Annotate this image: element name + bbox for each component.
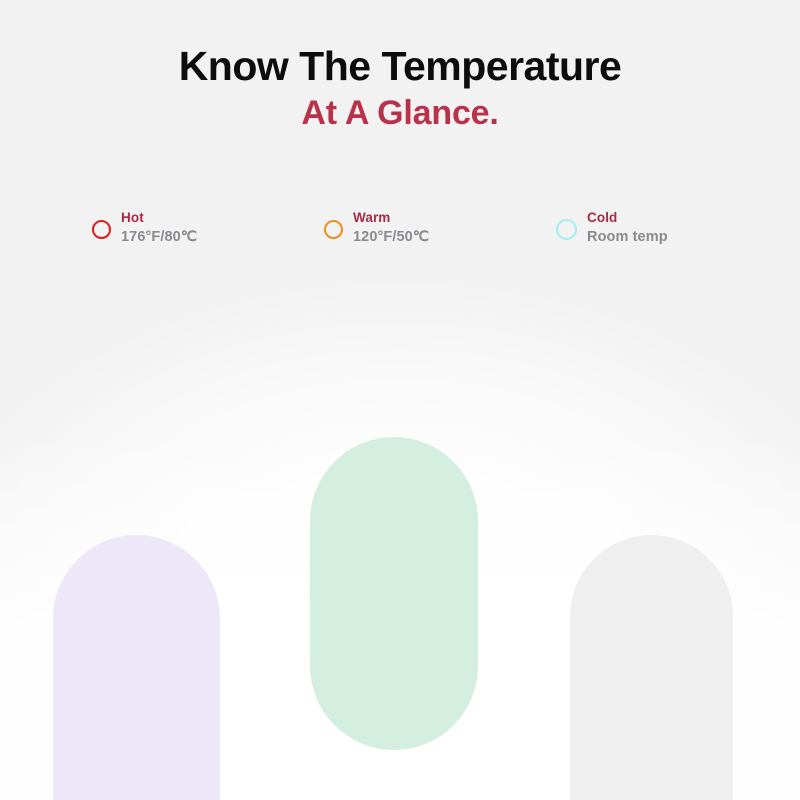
legend-label-cold: Cold xyxy=(587,210,668,227)
product-pill-center xyxy=(310,437,478,750)
legend-label-warm: Warm xyxy=(353,210,429,227)
legend-item-warm[interactable]: Warm 120°F/50℃ xyxy=(324,210,556,246)
temperature-legend: Hot 176°F/80℃ Warm 120°F/50℃ Cold Room t… xyxy=(92,210,732,246)
circle-ring-icon-hot xyxy=(92,220,111,239)
legend-label-hot: Hot xyxy=(121,210,197,227)
product-pill-left xyxy=(53,535,220,800)
legend-value-cold: Room temp xyxy=(587,228,668,246)
legend-text-cold: Cold Room temp xyxy=(587,210,668,246)
circle-ring-icon-cold xyxy=(556,219,577,240)
headline-line-2: At A Glance. xyxy=(0,91,800,135)
legend-item-cold[interactable]: Cold Room temp xyxy=(556,210,668,246)
page-title: Know The Temperature At A Glance. xyxy=(0,44,800,135)
product-pill-right xyxy=(570,535,733,800)
legend-item-hot[interactable]: Hot 176°F/80℃ xyxy=(92,210,324,246)
promo-canvas: Know The Temperature At A Glance. Hot 17… xyxy=(0,0,800,800)
legend-value-warm: 120°F/50℃ xyxy=(353,228,429,246)
legend-value-hot: 176°F/80℃ xyxy=(121,228,197,246)
legend-text-hot: Hot 176°F/80℃ xyxy=(121,210,197,246)
headline-line-1: Know The Temperature xyxy=(0,44,800,88)
legend-text-warm: Warm 120°F/50℃ xyxy=(353,210,429,246)
circle-ring-icon-warm xyxy=(324,220,343,239)
